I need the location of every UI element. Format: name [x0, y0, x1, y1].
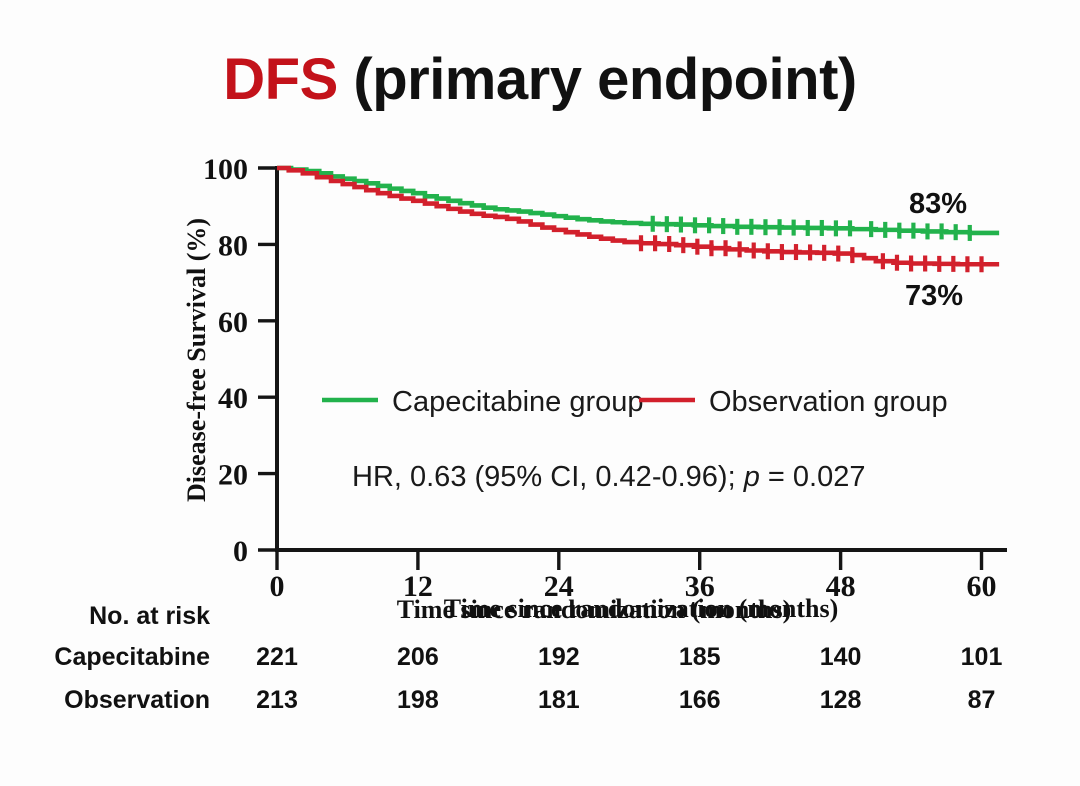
risk-table-cell: 87: [968, 686, 996, 714]
endpoint-label-observation: 73%: [905, 280, 963, 312]
risk-table-cell: 128: [820, 686, 862, 714]
y-tick-label: 20: [218, 459, 248, 492]
risk-table-cell: 185: [679, 643, 721, 671]
plot-area: 020406080100 01224364860 Disease-free Su…: [0, 0, 1080, 786]
risk-table-cell: 181: [538, 686, 580, 714]
y-tick-label: 0: [233, 535, 248, 568]
legend: Capecitabine group Observation group: [322, 386, 948, 418]
y-axis-title: Disease-free Survival (%): [182, 218, 211, 502]
x-tick-label: 0: [270, 570, 285, 603]
risk-table-cell: 221: [256, 643, 298, 671]
chart-page: DFS (primary endpoint) 020406080100 0122…: [0, 0, 1080, 786]
risk-table-cell: 101: [961, 643, 1003, 671]
risk-table-cell: 213: [256, 686, 298, 714]
y-tick-label: 40: [218, 382, 248, 415]
p-symbol: p: [743, 461, 760, 493]
survival-curves: [277, 168, 999, 272]
y-tick-label: 80: [218, 229, 248, 262]
risk-row-label-observation: Observation: [64, 686, 210, 714]
curve-observation: [277, 168, 999, 264]
curve-capecitabine: [277, 168, 999, 233]
y-axis-ticks: 020406080100: [203, 153, 277, 568]
y-tick-label: 60: [218, 306, 248, 339]
risk-table: No. at risk Time since randomization (mo…: [54, 595, 1002, 714]
hr-statistic: HR, 0.63 (95% CI, 0.42-0.96); p = 0.027: [352, 461, 865, 493]
risk-row-label-capecitabine: Capecitabine: [54, 643, 210, 671]
y-tick-label: 100: [203, 153, 248, 186]
legend-label-capecitabine: Capecitabine group: [392, 386, 644, 418]
risk-table-values: 22120619218514010121319818116612887: [256, 643, 1002, 714]
risk-table-cell: 192: [538, 643, 580, 671]
risk-table-cell: 206: [397, 643, 439, 671]
risk-table-cell: 166: [679, 686, 721, 714]
x-tick-label: 60: [967, 570, 997, 603]
risk-table-cell: 140: [820, 643, 862, 671]
km-survival-plot: 020406080100 01224364860 Disease-free Su…: [0, 0, 1080, 786]
p-value: = 0.027: [760, 461, 866, 493]
hr-prefix: HR, 0.63 (95% CI, 0.42-0.96);: [352, 461, 744, 493]
risk-table-axis-title: Time since randomization (months): [397, 595, 792, 624]
risk-table-header: No. at risk: [89, 602, 210, 630]
risk-table-cell: 198: [397, 686, 439, 714]
endpoint-label-capecitabine: 83%: [909, 188, 967, 220]
legend-label-observation: Observation group: [709, 386, 948, 418]
